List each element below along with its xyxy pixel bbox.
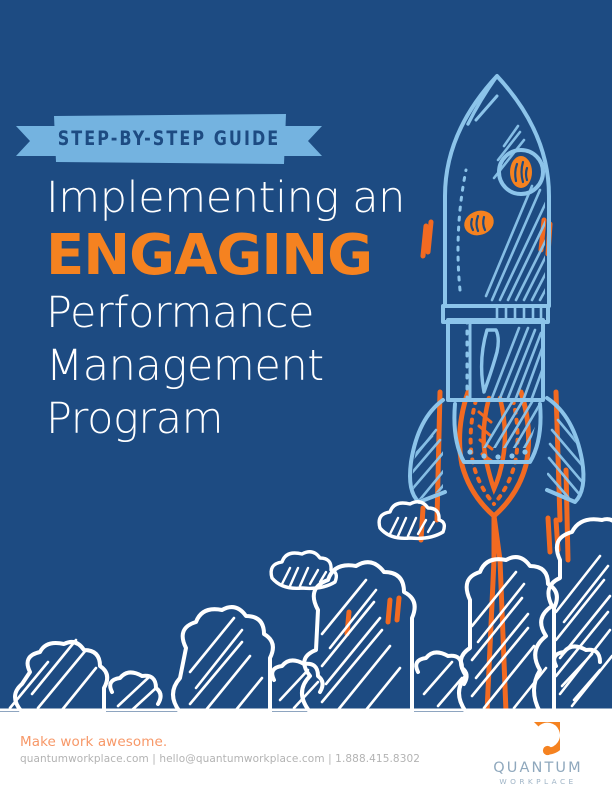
quantum-q-icon	[514, 722, 560, 765]
footer-tagline: Make work awesome.	[20, 734, 167, 750]
title-line-accent: ENGAGING	[46, 225, 446, 287]
banner-ribbon: STEP-BY-STEP GUIDE	[14, 112, 324, 166]
logo-wordmark: QUANTUM	[478, 760, 598, 776]
title-line-4: Management	[46, 340, 446, 393]
footer: Make work awesome. quantumworkplace.com …	[0, 712, 612, 792]
logo-submark: WORKPLACE	[478, 777, 598, 786]
title-line-3: Performance	[46, 287, 446, 340]
quantum-workplace-logo: QUANTUM WORKPLACE	[478, 722, 598, 784]
title-line-1: Implementing an	[46, 172, 446, 225]
page-title: Implementing an ENGAGING Performance Man…	[46, 172, 446, 446]
footer-contact: quantumworkplace.com | hello@quantumwork…	[20, 753, 420, 765]
cover-page: STEP-BY-STEP GUIDE Implementing an ENGAG…	[0, 0, 612, 792]
banner-label: STEP-BY-STEP GUIDE	[23, 108, 314, 171]
title-line-5: Program	[46, 393, 446, 446]
